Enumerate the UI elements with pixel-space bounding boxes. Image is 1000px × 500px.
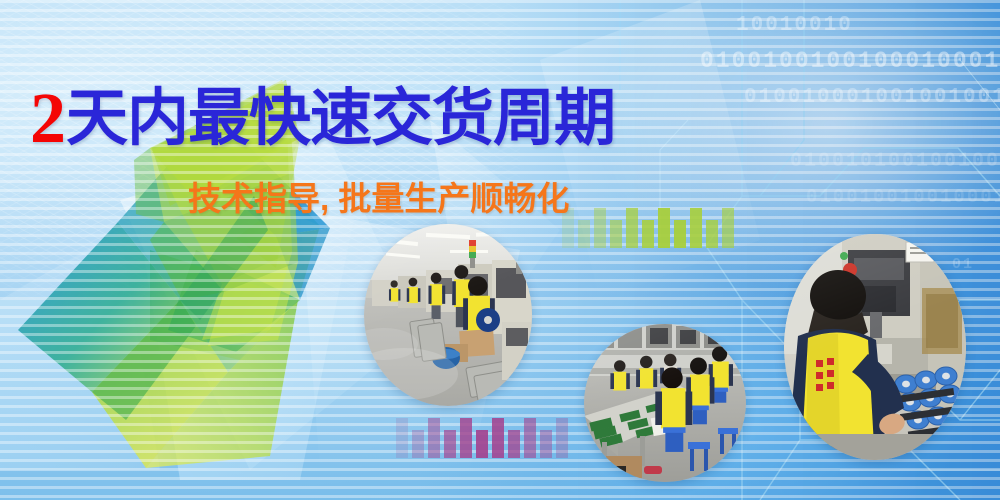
decor-bar [412, 430, 424, 458]
decor-bar [594, 208, 606, 248]
promo-banner: 10010010 0100100100100010001000100010 01… [0, 0, 1000, 500]
decor-bar [460, 418, 472, 458]
green-bar-decoration [562, 208, 734, 248]
decor-bar [444, 430, 456, 458]
decor-bar [428, 418, 440, 458]
binary-code-line-3: 0100100010010010010001001000100 [744, 86, 1000, 109]
subheadline: 技术指导, 批量生产顺畅化 [188, 172, 569, 220]
decor-bar [396, 418, 408, 458]
photo-machine-operator-art [784, 234, 966, 460]
decor-bar [508, 430, 520, 458]
decor-bar [492, 418, 504, 458]
decor-bar [476, 430, 488, 458]
decor-bar [610, 220, 622, 248]
photo-assembly-bench [584, 324, 746, 482]
decor-bar [706, 220, 718, 248]
headline: 2天内最快速交货周期 [30, 82, 615, 154]
decor-bar [658, 208, 670, 248]
binary-code-line-1: 10010010 [736, 14, 853, 37]
decor-bar [642, 220, 654, 248]
photo-smt-line [364, 224, 532, 406]
binary-code-line-4: 0100101001001000100100 [790, 150, 1000, 173]
photo-machine-operator [784, 234, 966, 460]
binary-code-line-2: 0100100100100010001000100010 [700, 48, 1000, 74]
decor-bar [722, 208, 734, 248]
decor-bar [556, 418, 568, 458]
decor-bar [540, 430, 552, 458]
photo-assembly-bench-art [584, 324, 746, 482]
photo-smt-line-art [364, 224, 532, 406]
headline-number: 2 [30, 78, 65, 158]
decor-bar [578, 220, 590, 248]
purple-bar-decoration [396, 418, 568, 458]
binary-code-line-5: 010010010010001001000 [806, 186, 1000, 208]
decor-bar [690, 208, 702, 248]
decor-bar [674, 220, 686, 248]
decor-bar [524, 418, 536, 458]
decor-bar [626, 208, 638, 248]
headline-text: 天内最快速交货周期 [66, 84, 615, 153]
